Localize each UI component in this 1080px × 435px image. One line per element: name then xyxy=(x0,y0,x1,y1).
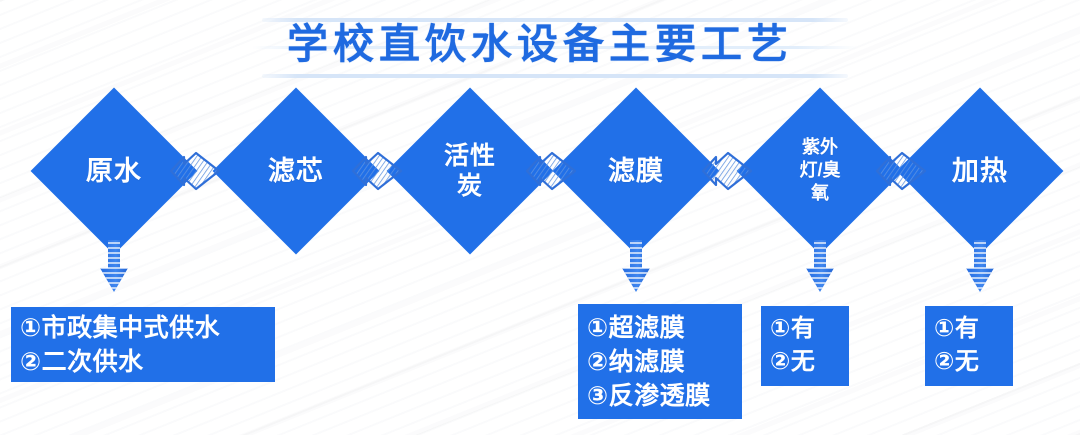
double-chevron-right-arrow-icon xyxy=(350,148,404,194)
step-label-filter-core: 滤芯 xyxy=(268,156,324,186)
double-chevron-right-arrow-icon xyxy=(700,148,754,194)
option-line: ①有 xyxy=(934,313,1004,346)
options-box-raw-water[interactable]: ①市政集中式供水 ②二次供水 xyxy=(11,307,275,382)
double-chevron-right-arrow-icon xyxy=(874,148,928,194)
down-arrow-icon xyxy=(803,238,837,294)
option-line: ①超滤膜 xyxy=(587,311,733,345)
double-chevron-right-arrow-icon xyxy=(524,148,578,194)
options-box-membrane[interactable]: ①超滤膜 ②纳滤膜 ③反渗透膜 xyxy=(578,304,742,419)
down-arrow-icon xyxy=(97,238,131,294)
title-rule-bottom xyxy=(262,74,848,78)
step-label-uv-ozone: 紫外 灯/臭 氧 xyxy=(799,136,840,205)
step-label-heating: 加热 xyxy=(952,156,1008,186)
option-line: ①有 xyxy=(770,313,840,346)
title-block: 学校直饮水设备主要工艺 xyxy=(0,8,1080,86)
down-arrow-icon xyxy=(963,238,997,294)
step-label-membrane: 滤膜 xyxy=(608,156,664,186)
option-line: ②纳滤膜 xyxy=(587,345,733,379)
double-chevron-right-arrow-icon xyxy=(168,148,222,194)
options-box-uv-ozone[interactable]: ①有 ②无 xyxy=(761,306,849,386)
option-line: ③反渗透膜 xyxy=(587,379,733,413)
option-line: ①市政集中式供水 xyxy=(20,311,266,345)
step-label-raw-water: 原水 xyxy=(86,156,142,186)
option-line: ②无 xyxy=(770,346,840,379)
page-title: 学校直饮水设备主要工艺 xyxy=(0,14,1080,74)
down-arrow-icon xyxy=(619,238,653,294)
option-line: ②无 xyxy=(934,346,1004,379)
option-line: ②二次供水 xyxy=(20,345,266,379)
process-flow-diagram: 学校直饮水设备主要工艺 原水 滤芯 活性 炭 滤膜 紫外 灯/臭 氧 加热 xyxy=(0,0,1080,435)
step-label-activated-carbon: 活性 炭 xyxy=(444,141,496,201)
options-box-heating[interactable]: ①有 ②无 xyxy=(925,306,1013,386)
